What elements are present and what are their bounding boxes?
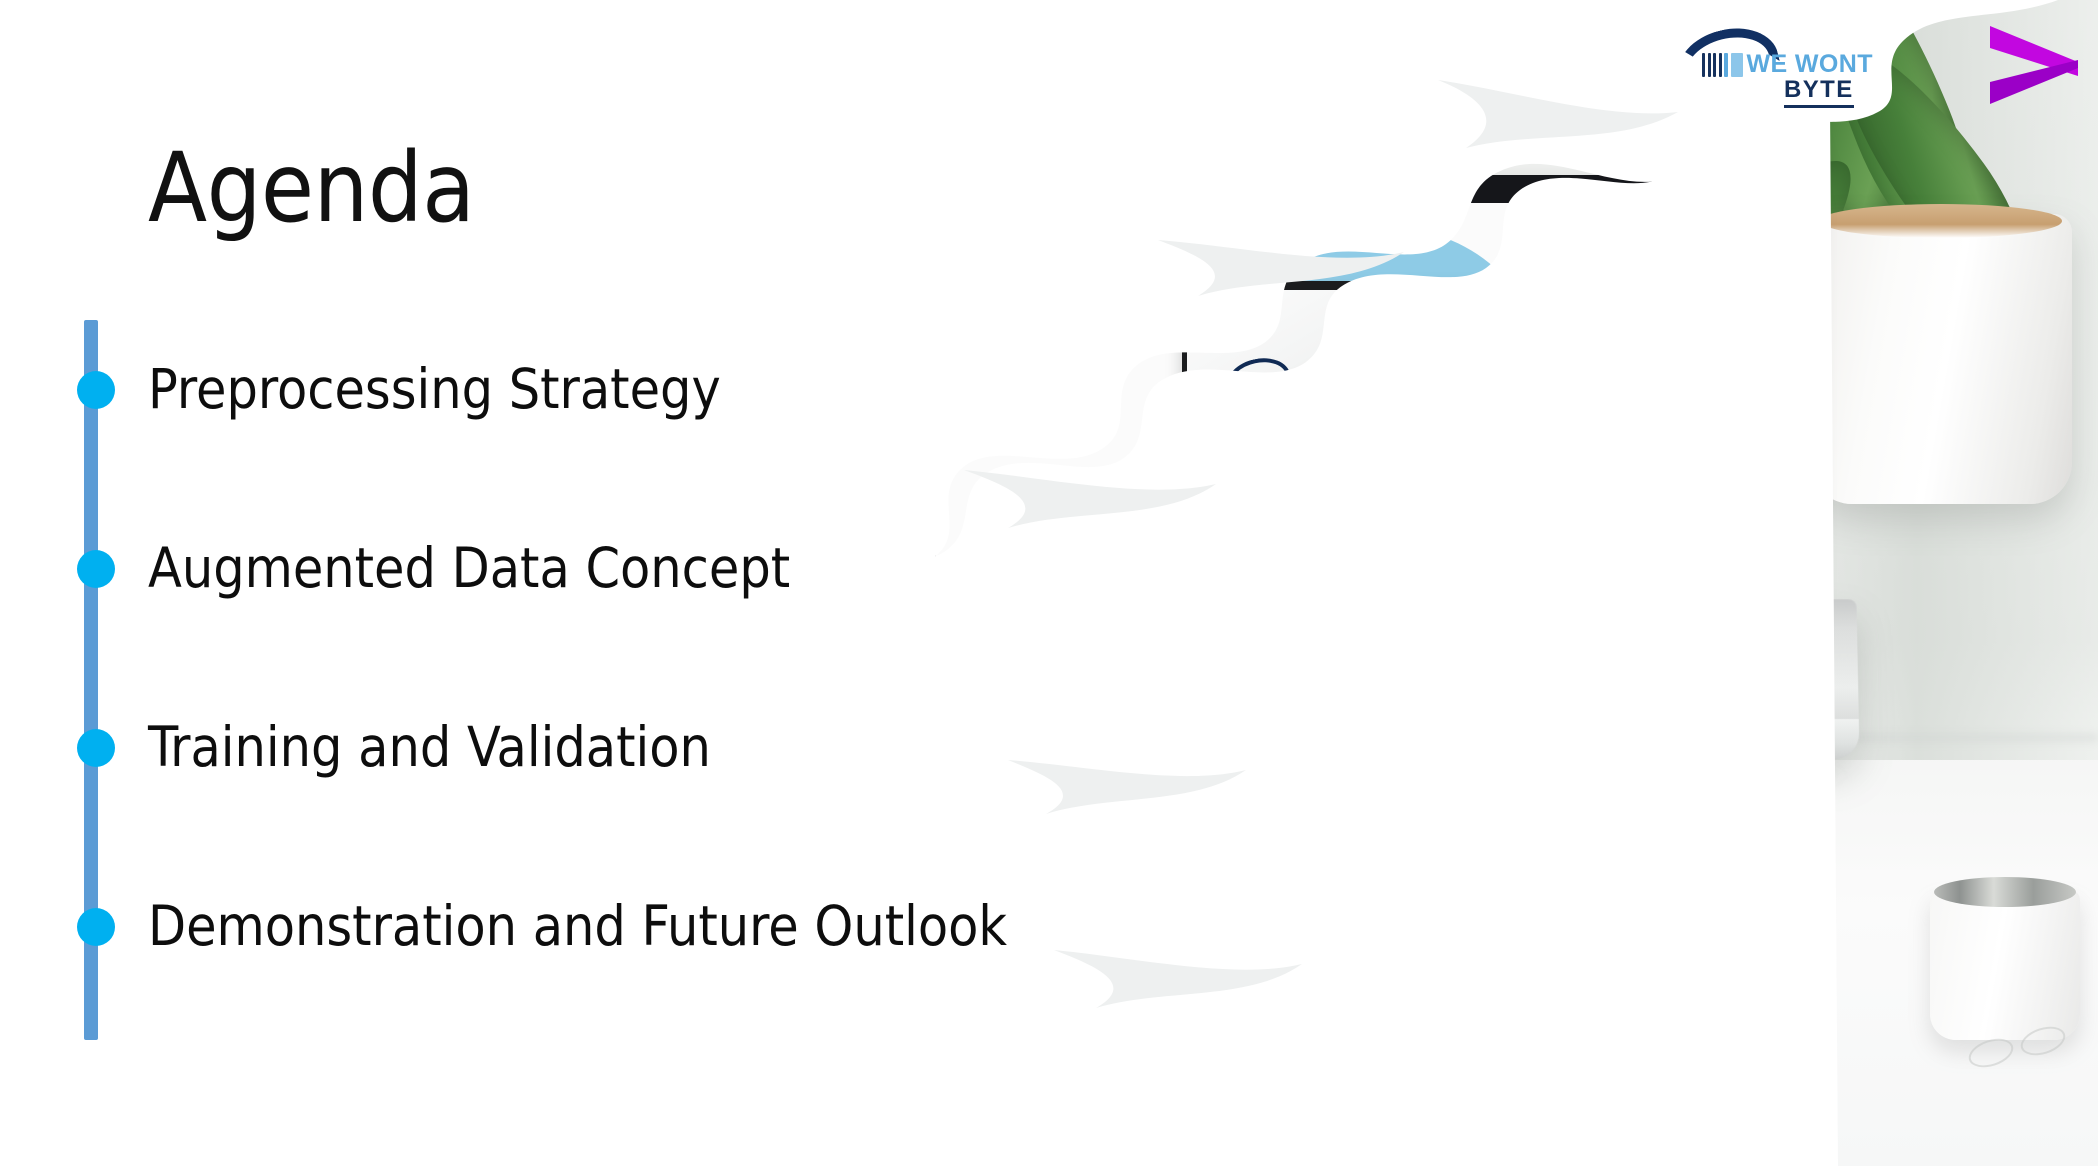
purple-chevron-icon <box>1982 20 2092 110</box>
we-wont-byte-logo: WE WONT BYTE <box>1674 24 1922 108</box>
agenda-item-label: Augmented Data Concept <box>148 540 790 598</box>
cable-bars-icon <box>1702 53 1743 77</box>
timeline-dot-icon <box>77 371 115 409</box>
agenda-item-label: Training and Validation <box>148 719 711 777</box>
silver-lined-cup <box>1930 890 2080 1040</box>
timeline-dot-icon <box>77 908 115 946</box>
agenda-list: Preprocessing Strategy Augmented Data Co… <box>0 300 1060 1016</box>
laptop-screen: WE WONT BYTE HOME ABOUT US <box>936 203 1788 591</box>
timeline-dot-icon <box>77 729 115 767</box>
brand-line1: WE WONT <box>1747 50 1873 79</box>
agenda-item-label: Preprocessing Strategy <box>148 361 721 419</box>
twitter-icon[interactable] <box>1516 474 1525 483</box>
agenda-slide: WE WONT BYTE HOME ABOUT US <box>0 0 2098 1166</box>
mockup-social-links <box>1500 474 1525 483</box>
mockup-logo-line2: BYTE <box>1255 393 1291 409</box>
mockup-content-panel: HOME ABOUT US SERVICES CONTACT ABOUT US … <box>1362 290 1537 490</box>
laptop-front-notch <box>1334 734 1382 743</box>
mockup-logo-panel: WE WONT BYTE <box>1187 290 1362 490</box>
webcam-icon <box>1359 187 1366 194</box>
mockup-contact-us-button[interactable]: Contact Us <box>1374 367 1412 378</box>
page-title: Agenda <box>148 140 475 236</box>
brand-line2: BYTE <box>1784 76 1854 108</box>
eyeglasses <box>1968 1024 2088 1080</box>
mockup-nav: HOME ABOUT US SERVICES CONTACT <box>1362 290 1537 303</box>
facebook-icon[interactable] <box>1500 474 1509 483</box>
agenda-item-label: Demonstration and Future Outlook <box>148 898 1007 956</box>
timeline-dot-icon <box>77 550 115 588</box>
list-item[interactable]: Training and Validation <box>0 658 1060 837</box>
mockup-we-wont-byte-logo: WE WONT BYTE <box>1229 376 1320 409</box>
mockup-heading: ABOUT US <box>1374 325 1527 334</box>
website-mockup-device: WE WONT BYTE HOME ABOUT US <box>1182 281 1542 495</box>
list-item[interactable]: Preprocessing Strategy <box>0 300 1060 479</box>
list-item[interactable]: Augmented Data Concept <box>0 479 1060 658</box>
mockup-paragraph: We're the best in our field, and it's al… <box>1374 338 1514 360</box>
list-item[interactable]: Demonstration and Future Outlook <box>0 837 1060 1016</box>
